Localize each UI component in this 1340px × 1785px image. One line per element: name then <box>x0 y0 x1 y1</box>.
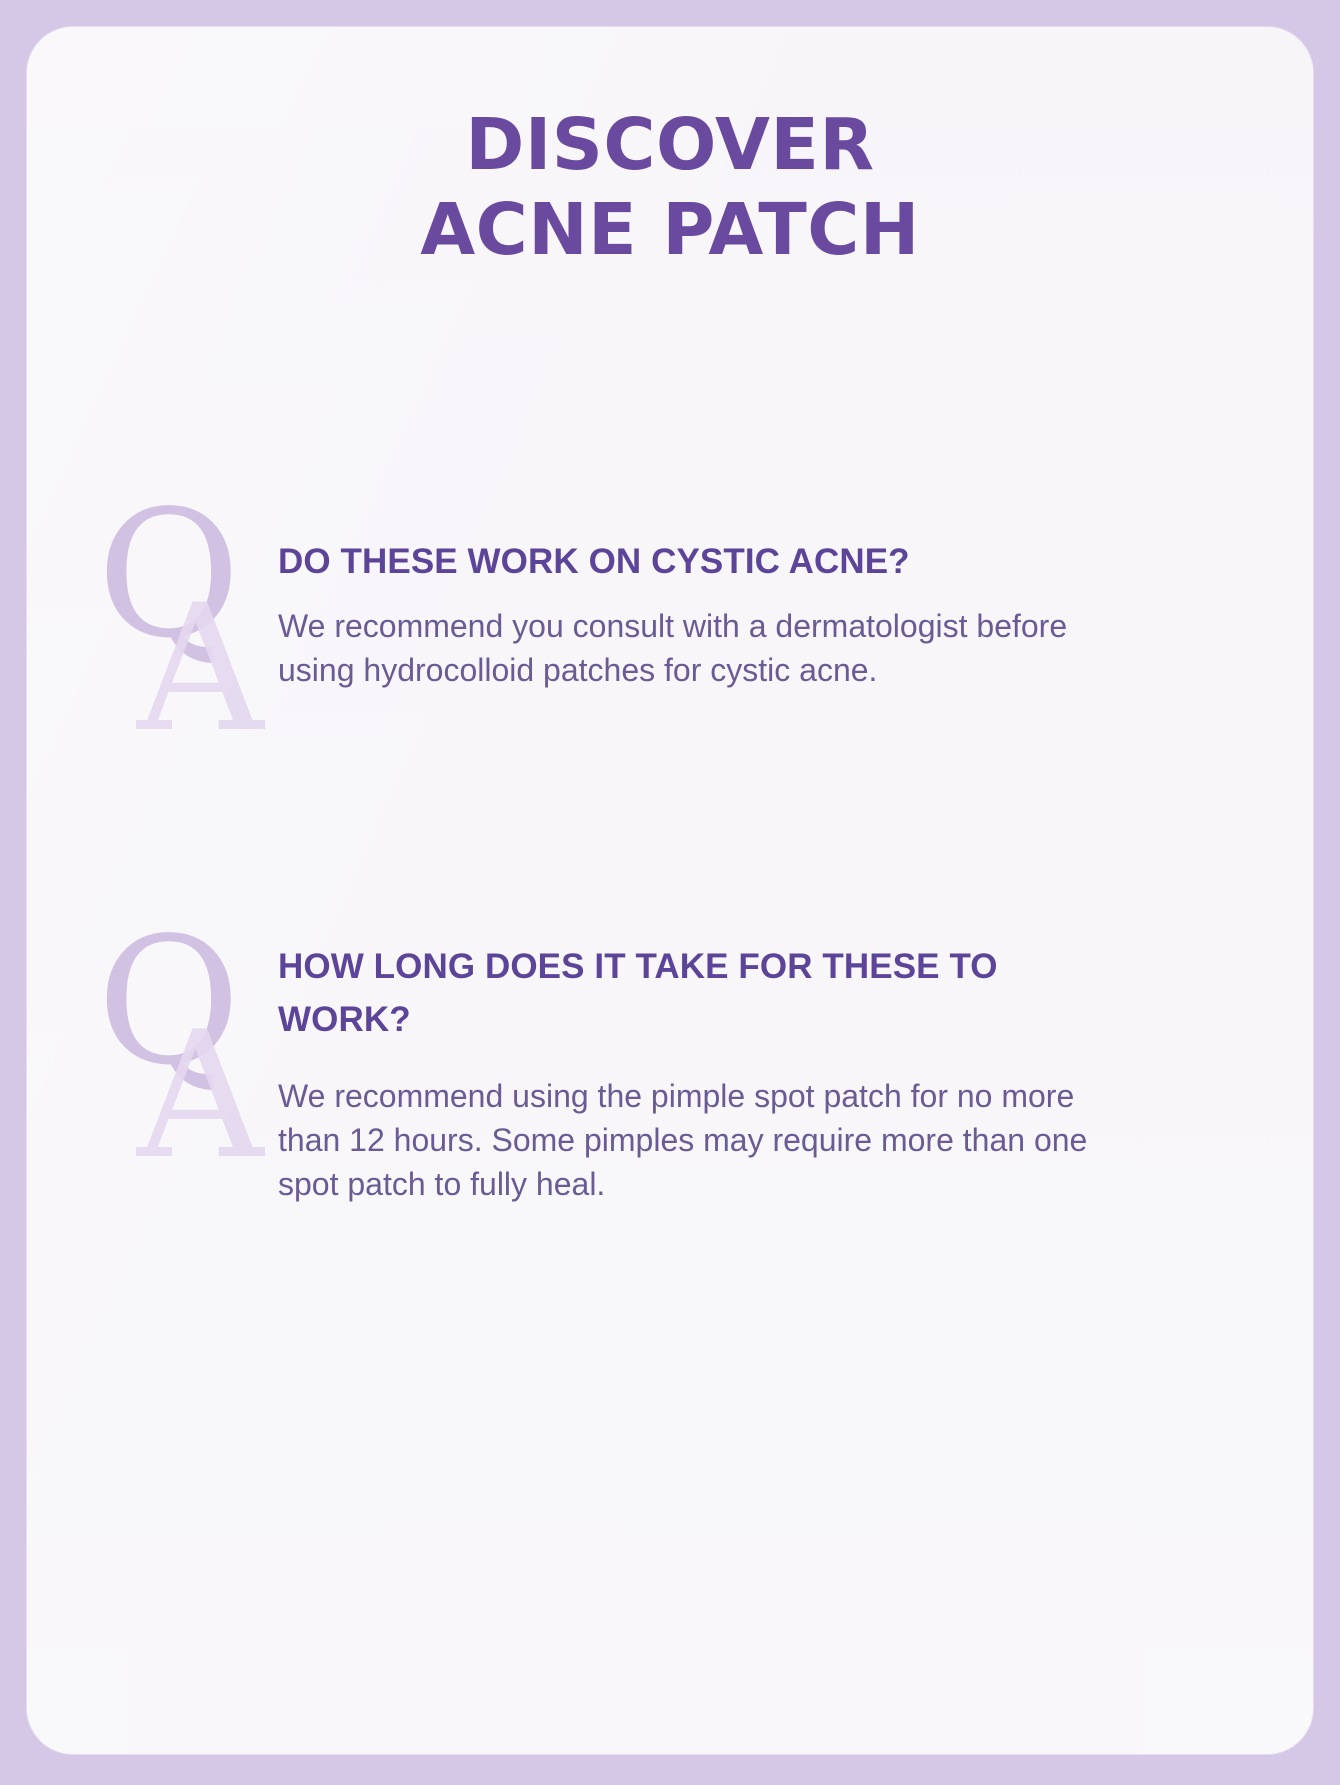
page-title-line-2: ACNE PATCH <box>27 187 1313 272</box>
qa-watermark: Q A <box>89 905 279 1155</box>
faq-question: DO THESE WORK ON CYSTIC ACNE? <box>278 535 1118 588</box>
card-content: DISCOVER ACNE PATCH Q A DO THESE WORK ON… <box>27 27 1313 1754</box>
answer-letter-icon: A <box>137 1009 263 1184</box>
question-letter-icon: Q <box>97 488 240 663</box>
page-title-line-1: DISCOVER <box>27 102 1313 187</box>
page-title: DISCOVER ACNE PATCH <box>27 102 1313 272</box>
faq-answer: We recommend you consult with a dermatol… <box>278 604 1118 692</box>
qa-watermark: Q A <box>89 478 279 728</box>
faq-answer: We recommend using the pimple spot patch… <box>278 1074 1138 1206</box>
faq-body: HOW LONG DOES IT TAKE FOR THESE TO WORK?… <box>278 940 1138 1206</box>
page-frame: DISCOVER ACNE PATCH Q A DO THESE WORK ON… <box>0 0 1340 1785</box>
faq-question: HOW LONG DOES IT TAKE FOR THESE TO WORK? <box>278 940 1138 1046</box>
question-letter-icon: Q <box>97 915 240 1090</box>
faq-card: DISCOVER ACNE PATCH Q A DO THESE WORK ON… <box>27 27 1313 1754</box>
faq-body: DO THESE WORK ON CYSTIC ACNE? We recomme… <box>278 535 1118 692</box>
answer-letter-icon: A <box>137 582 263 757</box>
